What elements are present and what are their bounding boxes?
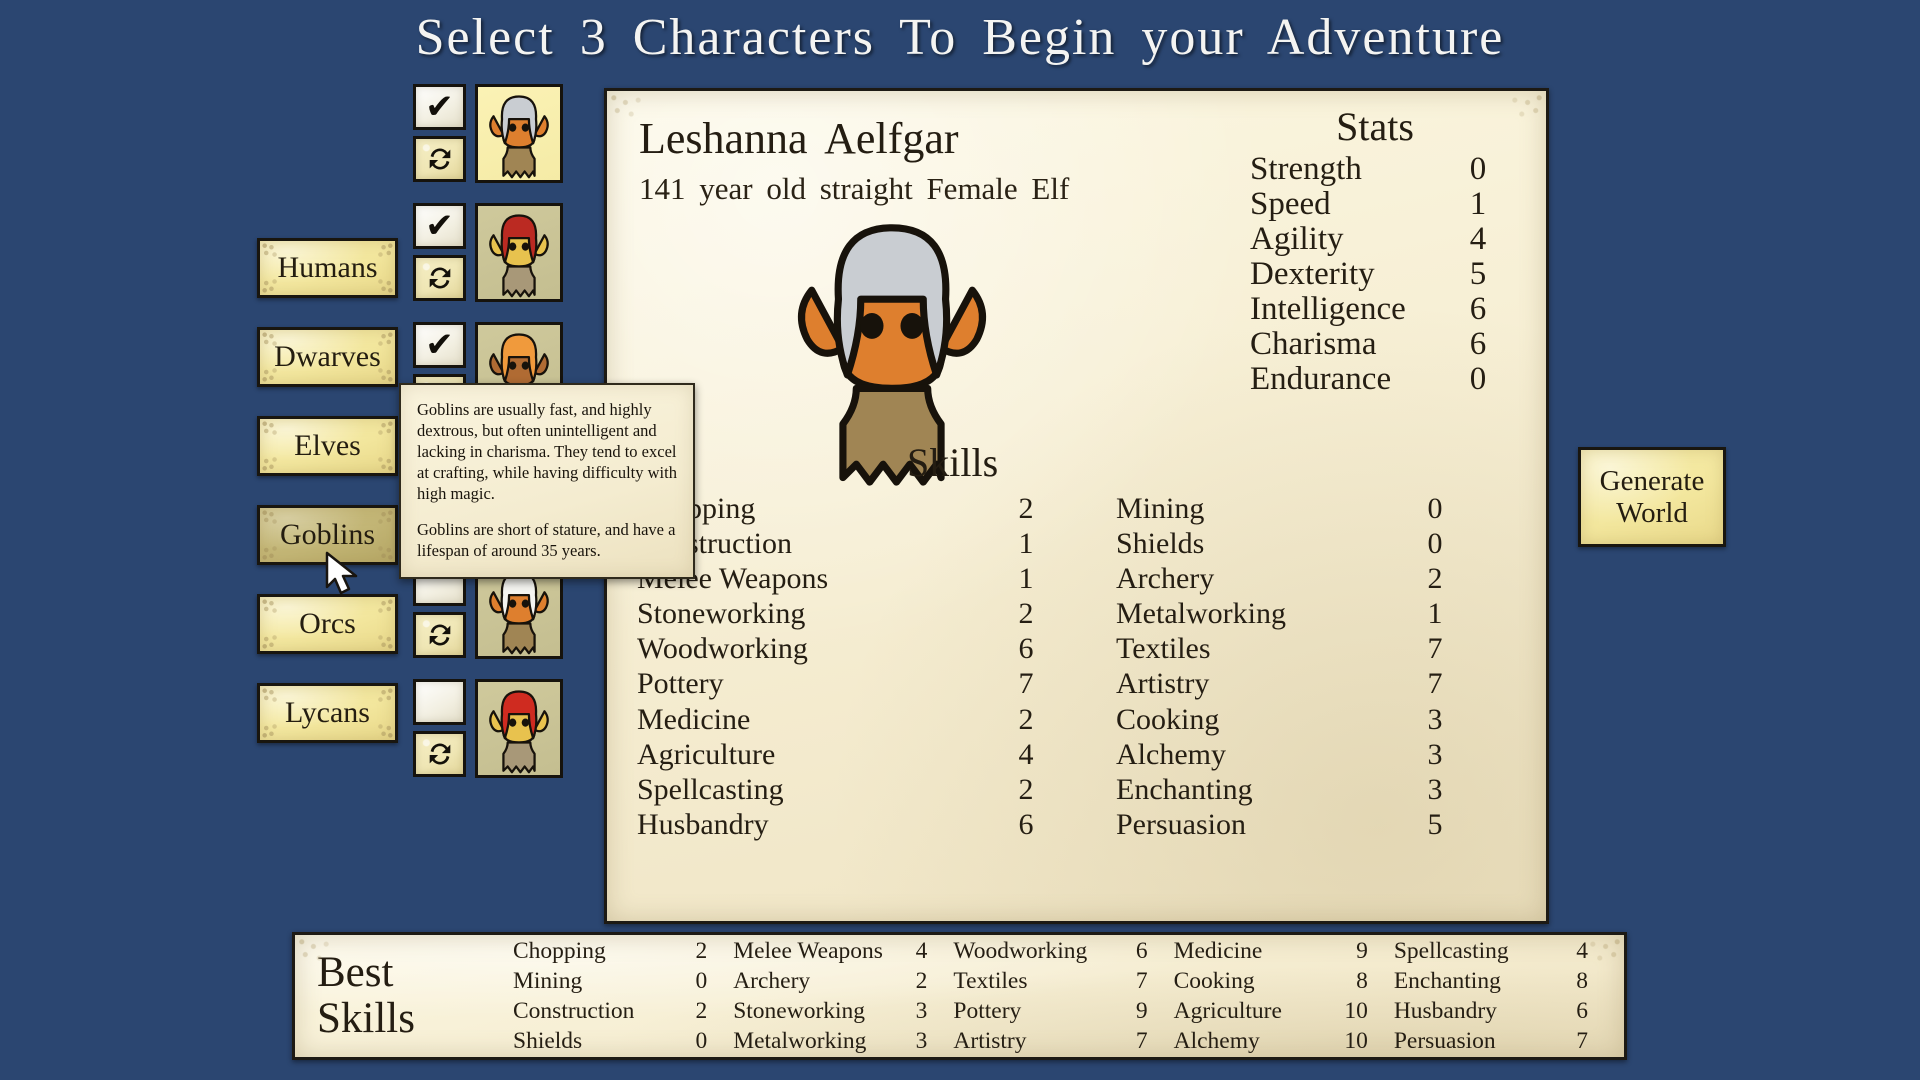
checkmark-icon: ✔ xyxy=(425,90,454,124)
skill-row: Enchanting3 xyxy=(1082,772,1527,807)
skill-value: 7 xyxy=(1417,666,1453,701)
race-tooltip-paragraph-2: Goblins are short of stature, and have a… xyxy=(417,519,677,561)
race-tooltip-paragraph-1: Goblins are usually fast, and highly dex… xyxy=(417,399,677,505)
skill-row: Shields0 xyxy=(1082,526,1527,561)
best-skill-label: Textiles xyxy=(953,966,1027,996)
stat-value: 6 xyxy=(1458,292,1498,327)
corner-ornament-bl xyxy=(260,625,286,651)
best-skills-heading-line1: Best xyxy=(317,950,499,996)
best-skill-value: 8 xyxy=(1554,966,1588,996)
reroll-button-6[interactable] xyxy=(413,731,466,777)
skill-value: 7 xyxy=(1008,666,1044,701)
best-skills-heading: Best Skills xyxy=(317,950,499,1041)
best-skill-label: Alchemy xyxy=(1174,1026,1260,1056)
best-skill-label: Persuasion xyxy=(1394,1026,1496,1056)
best-skills-row: Alchemy10 xyxy=(1174,1026,1384,1056)
stat-label: Intelligence xyxy=(1250,292,1406,327)
skill-label: Stoneworking xyxy=(637,596,805,631)
skill-value: 2 xyxy=(1008,772,1044,807)
best-skill-label: Chopping xyxy=(513,936,606,966)
corner-ornament-br xyxy=(369,625,395,651)
best-skill-label: Artistry xyxy=(953,1026,1026,1056)
stat-value: 0 xyxy=(1458,362,1498,397)
race-button-label: Goblins xyxy=(280,518,375,552)
stats-block: Stats Strength0Speed1Agility4Dexterity5I… xyxy=(1250,103,1500,397)
best-skill-label: Woodworking xyxy=(953,936,1087,966)
skill-value: 4 xyxy=(1008,737,1044,772)
stat-label: Charisma xyxy=(1250,327,1376,362)
best-skills-column: Medicine9Cooking8Agriculture10Alchemy10 xyxy=(1174,936,1394,1056)
corner-ornament-tl xyxy=(260,419,286,445)
stats-rows: Strength0Speed1Agility4Dexterity5Intelli… xyxy=(1250,152,1500,397)
avatar-graphic xyxy=(480,683,558,775)
checkmark-icon: ✔ xyxy=(425,209,454,243)
best-skill-value: 3 xyxy=(893,996,927,1026)
best-skills-heading-line2: Skills xyxy=(317,996,499,1042)
race-tooltip: Goblins are usually fast, and highly dex… xyxy=(399,383,695,579)
best-skill-label: Archery xyxy=(733,966,810,996)
best-skill-label: Shields xyxy=(513,1026,582,1056)
best-skill-label: Spellcasting xyxy=(1394,936,1509,966)
corner-ornament-tr xyxy=(369,597,395,623)
avatar-graphic xyxy=(480,88,558,180)
skill-value: 5 xyxy=(1417,807,1453,842)
best-skill-value: 9 xyxy=(1114,996,1148,1026)
stat-row: Dexterity5 xyxy=(1250,257,1500,292)
corner-ornament-tl xyxy=(260,686,286,712)
skill-value: 7 xyxy=(1417,631,1453,666)
corner-ornament-tl xyxy=(260,597,286,623)
character-checkbox-2[interactable]: ✔ xyxy=(413,203,466,249)
character-sheet-panel: Leshanna Aelfgar 141 year old straight F… xyxy=(604,88,1549,924)
skill-row: Alchemy3 xyxy=(1082,737,1527,772)
race-button-humans[interactable]: Humans xyxy=(257,238,398,298)
stat-value: 4 xyxy=(1458,222,1498,257)
best-skill-value: 7 xyxy=(1114,1026,1148,1056)
skill-value: 0 xyxy=(1417,526,1453,561)
skill-row: Persuasion5 xyxy=(1082,807,1527,842)
best-skill-value: 2 xyxy=(673,936,707,966)
stat-label: Strength xyxy=(1250,152,1362,187)
race-button-label: Dwarves xyxy=(274,340,381,374)
skill-value: 1 xyxy=(1008,526,1044,561)
character-checkbox-6[interactable] xyxy=(413,679,466,725)
roster-row-controls: ✔ xyxy=(413,203,470,302)
best-skill-value: 3 xyxy=(893,1026,927,1056)
race-button-goblins[interactable]: Goblins xyxy=(257,505,398,565)
character-portrait-1[interactable] xyxy=(475,84,563,183)
page-title: Select 3 Characters To Begin your Advent… xyxy=(0,8,1920,67)
corner-ornament-br xyxy=(369,714,395,740)
skill-label: Spellcasting xyxy=(637,772,784,807)
skill-value: 2 xyxy=(1008,596,1044,631)
stat-value: 1 xyxy=(1458,187,1498,222)
skill-label: Persuasion xyxy=(1116,807,1246,842)
best-skill-value: 0 xyxy=(673,1026,707,1056)
race-button-elves[interactable]: Elves xyxy=(257,416,398,476)
reroll-button-2[interactable] xyxy=(413,255,466,301)
best-skills-row: Chopping2 xyxy=(513,936,723,966)
reroll-button-1[interactable] xyxy=(413,136,466,182)
skills-column-right: Mining0Shields0Archery2Metalworking1Text… xyxy=(1082,491,1527,842)
best-skill-label: Husbandry xyxy=(1394,996,1497,1026)
best-skills-row: Spellcasting4 xyxy=(1394,936,1604,966)
skill-value: 0 xyxy=(1417,491,1453,526)
skill-value: 2 xyxy=(1008,491,1044,526)
skill-value: 1 xyxy=(1008,561,1044,596)
race-filter-list: HumansDwarvesElvesGoblinsOrcsLycans xyxy=(257,238,398,772)
best-skill-value: 0 xyxy=(673,966,707,996)
best-skills-row: Pottery9 xyxy=(953,996,1163,1026)
stat-value: 0 xyxy=(1458,152,1498,187)
generate-world-line2: World xyxy=(1616,497,1688,529)
race-button-label: Elves xyxy=(294,429,361,463)
best-skills-row: Enchanting8 xyxy=(1394,966,1604,996)
best-skills-panel: Best Skills Chopping2Mining0Construction… xyxy=(292,932,1627,1060)
corner-ornament-br xyxy=(369,447,395,473)
best-skill-label: Construction xyxy=(513,996,634,1026)
best-skill-value: 2 xyxy=(893,966,927,996)
refresh-icon xyxy=(425,620,455,650)
stat-label: Agility xyxy=(1250,222,1344,257)
skill-value: 2 xyxy=(1008,702,1044,737)
stat-row: Strength0 xyxy=(1250,152,1500,187)
stats-heading: Stats xyxy=(1250,103,1500,150)
best-skill-value: 8 xyxy=(1334,966,1368,996)
skill-value: 3 xyxy=(1417,737,1453,772)
character-portrait-6[interactable] xyxy=(475,679,563,778)
skill-label: Archery xyxy=(1116,561,1214,596)
skill-value: 6 xyxy=(1008,807,1044,842)
best-skill-value: 10 xyxy=(1334,996,1368,1026)
race-button-label: Orcs xyxy=(299,607,356,641)
corner-ornament-tr xyxy=(369,419,395,445)
stat-value: 6 xyxy=(1458,327,1498,362)
reroll-button-5[interactable] xyxy=(413,612,466,658)
skill-label: Textiles xyxy=(1116,631,1211,666)
roster-row xyxy=(413,679,591,778)
best-skill-label: Stoneworking xyxy=(733,996,865,1026)
skill-row: Archery2 xyxy=(1082,561,1527,596)
best-skill-value: 9 xyxy=(1334,936,1368,966)
race-button-label: Humans xyxy=(278,251,378,285)
stat-row: Speed1 xyxy=(1250,187,1500,222)
best-skills-column: Woodworking6Textiles7Pottery9Artistry7 xyxy=(953,936,1173,1056)
character-checkbox-3[interactable]: ✔ xyxy=(413,322,466,368)
best-skills-column: Melee Weapons4Archery2Stoneworking3Metal… xyxy=(733,936,953,1056)
roster-row: ✔ xyxy=(413,84,591,183)
race-button-orcs[interactable]: Orcs xyxy=(257,594,398,654)
skills-column-left: Chopping2Construction1Melee Weapons1Ston… xyxy=(637,491,1082,842)
best-skills-row: Woodworking6 xyxy=(953,936,1163,966)
race-button-lycans[interactable]: Lycans xyxy=(257,683,398,743)
character-portrait-2[interactable] xyxy=(475,203,563,302)
refresh-icon xyxy=(425,739,455,769)
skill-row: Agriculture4 xyxy=(637,737,1082,772)
skill-label: Pottery xyxy=(637,666,724,701)
skills-grid: Chopping2Construction1Melee Weapons1Ston… xyxy=(637,491,1527,842)
best-skill-label: Enchanting xyxy=(1394,966,1501,996)
roster-row: ✔ xyxy=(413,203,591,302)
best-skills-row: Medicine9 xyxy=(1174,936,1384,966)
skill-label: Husbandry xyxy=(637,807,769,842)
character-checkbox-1[interactable]: ✔ xyxy=(413,84,466,130)
stat-row: Agility4 xyxy=(1250,222,1500,257)
skill-label: Artistry xyxy=(1116,666,1209,701)
best-skills-column: Chopping2Mining0Construction2Shields0 xyxy=(513,936,733,1056)
skill-label: Agriculture xyxy=(637,737,775,772)
skill-value: 3 xyxy=(1417,772,1453,807)
race-button-dwarves[interactable]: Dwarves xyxy=(257,327,398,387)
skill-row: Cooking3 xyxy=(1082,702,1527,737)
skill-row: Artistry7 xyxy=(1082,666,1527,701)
skill-row: Mining0 xyxy=(1082,491,1527,526)
best-skill-value: 10 xyxy=(1334,1026,1368,1056)
best-skill-label: Medicine xyxy=(1174,936,1263,966)
best-skills-row: Archery2 xyxy=(733,966,943,996)
skill-label: Enchanting xyxy=(1116,772,1253,807)
skill-row: Stoneworking2 xyxy=(637,596,1082,631)
skill-label: Mining xyxy=(1116,491,1204,526)
stat-label: Endurance xyxy=(1250,362,1391,397)
best-skills-row: Metalworking3 xyxy=(733,1026,943,1056)
skill-row: Husbandry6 xyxy=(637,807,1082,842)
refresh-icon xyxy=(425,263,455,293)
best-skills-row: Husbandry6 xyxy=(1394,996,1604,1026)
best-skills-row: Textiles7 xyxy=(953,966,1163,996)
corner-ornament-tr xyxy=(369,686,395,712)
skill-row: Textiles7 xyxy=(1082,631,1527,666)
best-skill-value: 4 xyxy=(893,936,927,966)
skills-heading: Skills xyxy=(907,439,998,486)
character-name: Leshanna Aelfgar xyxy=(639,113,959,164)
best-skills-row: Cooking8 xyxy=(1174,966,1384,996)
skill-label: Alchemy xyxy=(1116,737,1226,772)
skill-row: Metalworking1 xyxy=(1082,596,1527,631)
best-skill-value: 7 xyxy=(1114,966,1148,996)
skill-value: 2 xyxy=(1417,561,1453,596)
best-skill-label: Cooking xyxy=(1174,966,1255,996)
best-skill-value: 7 xyxy=(1554,1026,1588,1056)
best-skills-row: Mining0 xyxy=(513,966,723,996)
avatar-graphic xyxy=(480,207,558,299)
stat-value: 5 xyxy=(1458,257,1498,292)
best-skill-value: 2 xyxy=(673,996,707,1026)
skill-row: Construction1 xyxy=(637,526,1082,561)
best-skill-label: Mining xyxy=(513,966,582,996)
best-skill-value: 4 xyxy=(1554,936,1588,966)
best-skill-label: Melee Weapons xyxy=(733,936,883,966)
race-button-label: Lycans xyxy=(285,696,370,730)
best-skill-label: Metalworking xyxy=(733,1026,866,1056)
roster-row-controls: ✔ xyxy=(413,84,470,183)
best-skills-columns: Chopping2Mining0Construction2Shields0Mel… xyxy=(499,936,1614,1056)
best-skills-row: Melee Weapons4 xyxy=(733,936,943,966)
skill-row: Melee Weapons1 xyxy=(637,561,1082,596)
roster-row-controls xyxy=(413,679,470,778)
skill-label: Shields xyxy=(1116,526,1204,561)
corner-ornament-bl xyxy=(260,447,286,473)
best-skills-row: Stoneworking3 xyxy=(733,996,943,1026)
skill-value: 1 xyxy=(1417,596,1453,631)
skill-value: 3 xyxy=(1417,702,1453,737)
best-skill-value: 6 xyxy=(1554,996,1588,1026)
generate-world-button[interactable]: Generate World xyxy=(1578,447,1726,547)
best-skill-label: Pottery xyxy=(953,996,1021,1026)
skill-row: Chopping2 xyxy=(637,491,1082,526)
best-skill-value: 6 xyxy=(1114,936,1148,966)
refresh-icon xyxy=(425,144,455,174)
skill-value: 6 xyxy=(1008,631,1044,666)
best-skills-row: Artistry7 xyxy=(953,1026,1163,1056)
skill-row: Spellcasting2 xyxy=(637,772,1082,807)
generate-world-line1: Generate xyxy=(1600,465,1705,497)
skill-row: Medicine2 xyxy=(637,702,1082,737)
best-skills-row: Construction2 xyxy=(513,996,723,1026)
skill-label: Cooking xyxy=(1116,702,1219,737)
stat-label: Dexterity xyxy=(1250,257,1375,292)
best-skill-label: Agriculture xyxy=(1174,996,1282,1026)
skill-label: Medicine xyxy=(637,702,750,737)
skill-label: Metalworking xyxy=(1116,596,1286,631)
best-skills-row: Shields0 xyxy=(513,1026,723,1056)
skill-row: Woodworking6 xyxy=(637,631,1082,666)
checkmark-icon: ✔ xyxy=(425,328,454,362)
stat-label: Speed xyxy=(1250,187,1331,222)
skill-label: Woodworking xyxy=(637,631,808,666)
best-skills-row: Persuasion7 xyxy=(1394,1026,1604,1056)
corner-ornament-bl xyxy=(260,714,286,740)
skill-row: Pottery7 xyxy=(637,666,1082,701)
best-skills-row: Agriculture10 xyxy=(1174,996,1384,1026)
stat-row: Charisma6 xyxy=(1250,327,1500,362)
stat-row: Intelligence6 xyxy=(1250,292,1500,327)
best-skills-column: Spellcasting4Enchanting8Husbandry6Persua… xyxy=(1394,936,1614,1056)
stat-row: Endurance0 xyxy=(1250,362,1500,397)
